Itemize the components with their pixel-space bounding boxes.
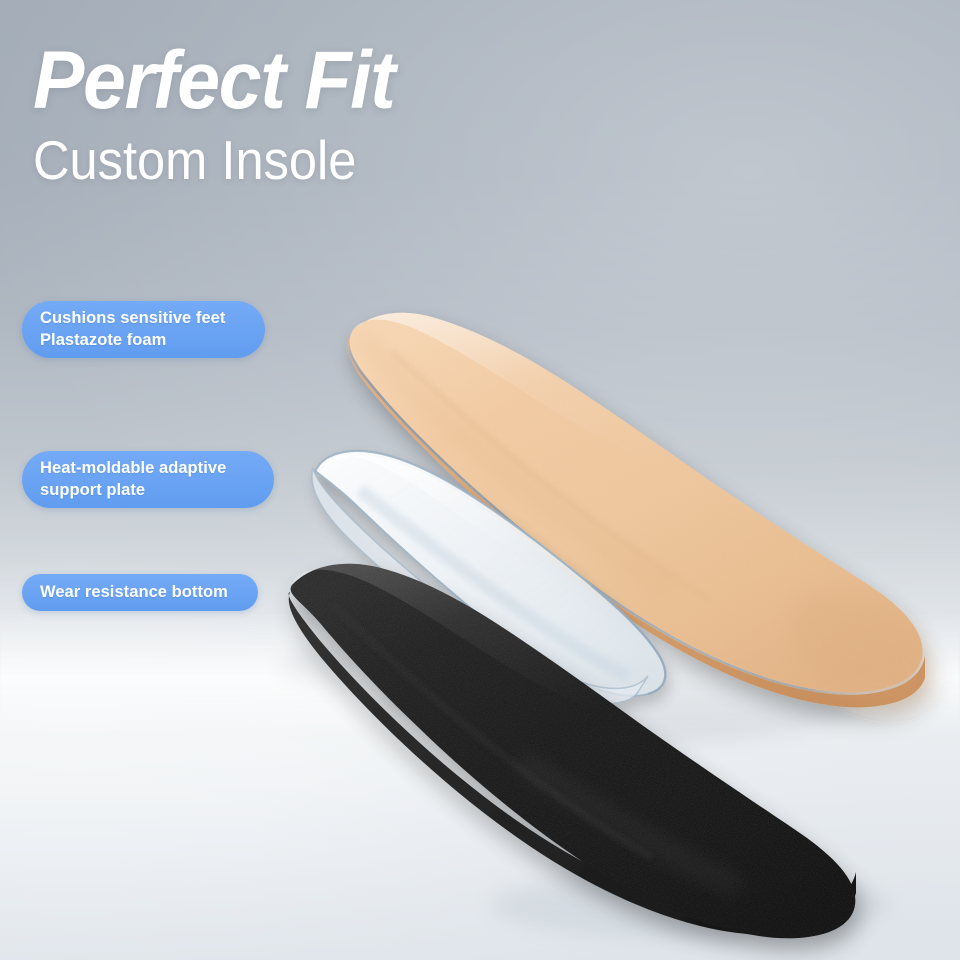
page-title: Perfect Fit xyxy=(33,42,691,121)
feature-badge-bottom: Wear resistance bottom xyxy=(22,574,258,611)
product-poster: Perfect Fit Custom Insole Cushions sensi… xyxy=(0,0,960,960)
feature-badge-cushion: Cushions sensitive feet Plastazote foam xyxy=(22,301,265,358)
page-subtitle: Custom Insole xyxy=(33,133,677,188)
heading-block: Perfect Fit Custom Insole xyxy=(33,42,733,188)
feature-badge-support-plate: Heat-moldable adaptive support plate xyxy=(22,451,274,508)
